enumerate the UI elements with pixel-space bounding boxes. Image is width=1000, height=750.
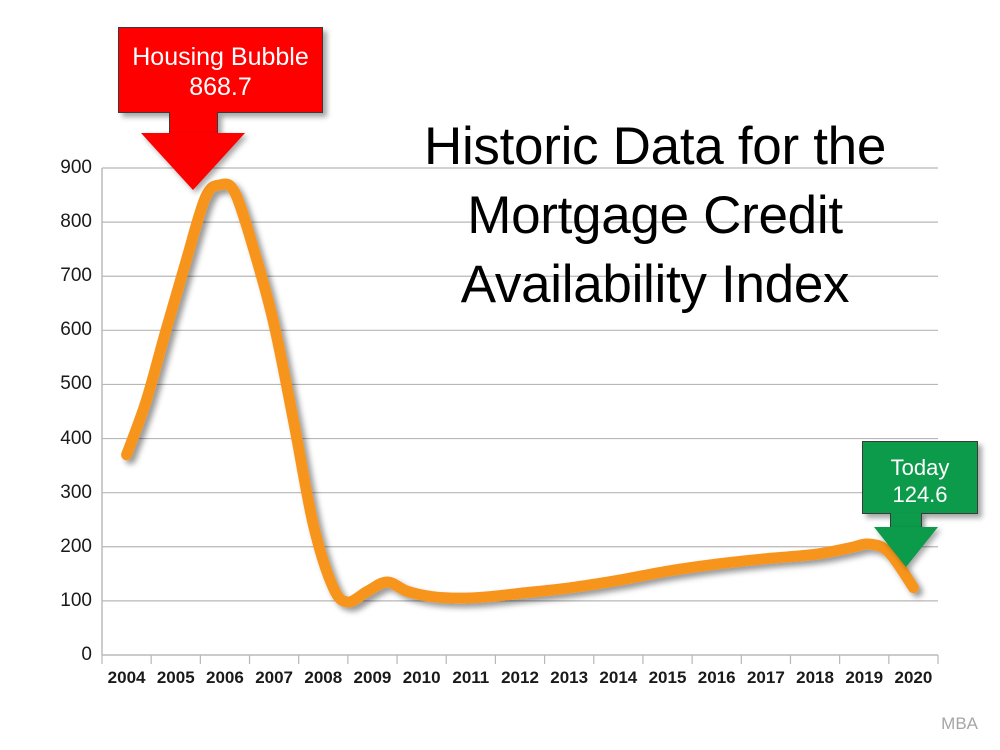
y-axis-tick-label: 900 bbox=[38, 157, 92, 179]
y-axis-tick-label: 100 bbox=[38, 590, 92, 612]
callout-today-box: Today 124.6 bbox=[862, 441, 978, 514]
y-axis-tick-label: 700 bbox=[38, 265, 92, 287]
down-arrow-icon bbox=[141, 133, 245, 190]
y-axis-tick-label: 800 bbox=[38, 211, 92, 233]
title-line-1: Historic Data for the bbox=[368, 112, 942, 181]
callout-today: Today 124.6 bbox=[862, 441, 978, 514]
title-line-3: Availability Index bbox=[368, 250, 942, 319]
y-axis-tick-label: 0 bbox=[38, 644, 92, 666]
callout-housing-bubble-value: 868.7 bbox=[119, 72, 322, 102]
y-axis-tick-label: 500 bbox=[38, 373, 92, 395]
chart-x-ticks bbox=[102, 655, 938, 664]
callout-housing-bubble: Housing Bubble 868.7 bbox=[118, 27, 323, 113]
callout-housing-bubble-label: Housing Bubble bbox=[119, 42, 322, 72]
y-axis-tick-label: 300 bbox=[38, 482, 92, 504]
callout-today-label: Today bbox=[863, 454, 977, 481]
y-axis-tick-label: 400 bbox=[38, 428, 92, 450]
callout-housing-bubble-arrow-stem bbox=[169, 112, 218, 135]
x-axis-tick-label: 2020 bbox=[883, 668, 943, 688]
page-title: Historic Data for the Mortgage Credit Av… bbox=[368, 112, 942, 319]
callout-today-value: 124.6 bbox=[863, 481, 977, 508]
y-axis-tick-label: 600 bbox=[38, 319, 92, 341]
title-line-2: Mortgage Credit bbox=[368, 181, 942, 250]
callout-housing-bubble-box: Housing Bubble 868.7 bbox=[118, 27, 323, 113]
slide-canvas: 0100200300400500600700800900 20042005200… bbox=[0, 0, 1000, 750]
source-attribution: MBA bbox=[941, 714, 978, 734]
down-arrow-icon bbox=[874, 527, 938, 567]
y-axis-tick-label: 200 bbox=[38, 536, 92, 558]
